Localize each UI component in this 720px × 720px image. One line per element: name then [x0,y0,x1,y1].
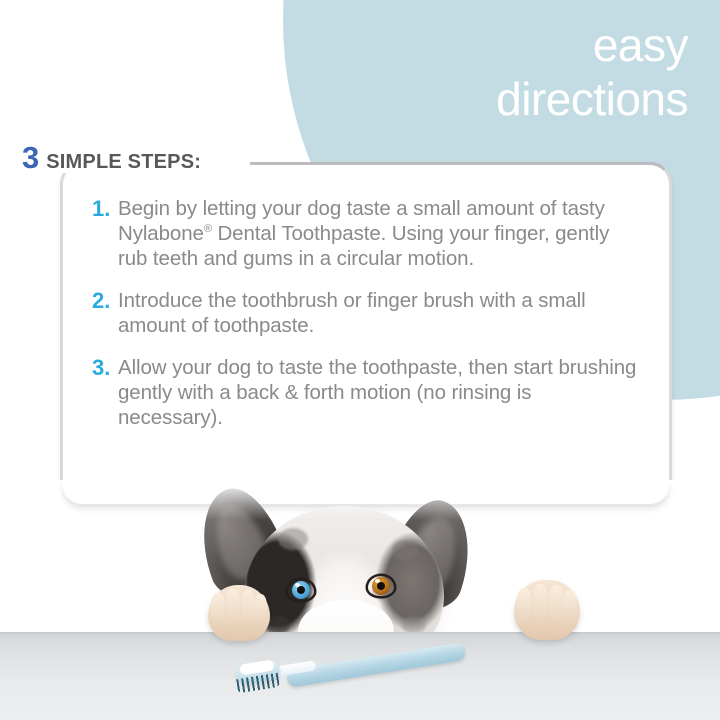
page-title-line-1: easy [496,18,688,72]
dog-fur-patch [392,540,418,560]
step-text: Introduce the toothbrush or finger brush… [118,288,637,338]
dog-right-paw [514,580,580,640]
step-number: 1. [92,196,118,222]
steps-list: 1. Begin by letting your dog taste a sma… [92,196,637,430]
list-item: 2. Introduce the toothbrush or finger br… [92,288,637,338]
ledge-surface [0,634,720,720]
dog-toe [211,593,225,623]
dog-photo [0,480,720,720]
dog-toe [226,589,240,623]
step-text-part-a: Allow your dog to taste the toothpaste, … [118,356,636,429]
dog-toe [241,590,255,623]
dog-right-eye-glint [375,579,380,583]
steps-legend: 3 SIMPLE STEPS: [22,142,207,173]
dog-toe [563,590,577,620]
list-item: 1. Begin by letting your dog taste a sma… [92,196,637,271]
step-text: Allow your dog to taste the toothpaste, … [118,355,637,430]
step-text: Begin by letting your dog taste a small … [118,196,637,271]
dog-fur-patch [278,528,308,550]
dog-right-eye [368,576,394,596]
poster-canvas: easy directions 3 SIMPLE STEPS: 1. Begin… [0,0,720,720]
dog-left-eye-glint [295,583,300,587]
dog-toe [254,594,267,623]
step-number: 2. [92,288,118,314]
ledge-edge [0,632,720,636]
dog-left-paw [208,585,270,641]
page-title-line-2: directions [496,72,688,126]
steps-count: 3 [22,142,39,173]
dog-toe [517,588,532,620]
page-title: easy directions [496,18,688,126]
step-number: 3. [92,355,118,381]
dog-left-eye [288,580,314,600]
dog-right-pupil [377,582,385,590]
list-item: 3. Allow your dog to taste the toothpast… [92,355,637,430]
registered-mark-icon: ® [204,223,212,235]
dog-left-pupil [297,586,305,594]
step-text-part-a: Introduce the toothbrush or finger brush… [118,289,586,337]
steps-legend-label: SIMPLE STEPS: [46,151,201,173]
dog-toe [533,584,548,620]
dog-toe [549,585,564,620]
